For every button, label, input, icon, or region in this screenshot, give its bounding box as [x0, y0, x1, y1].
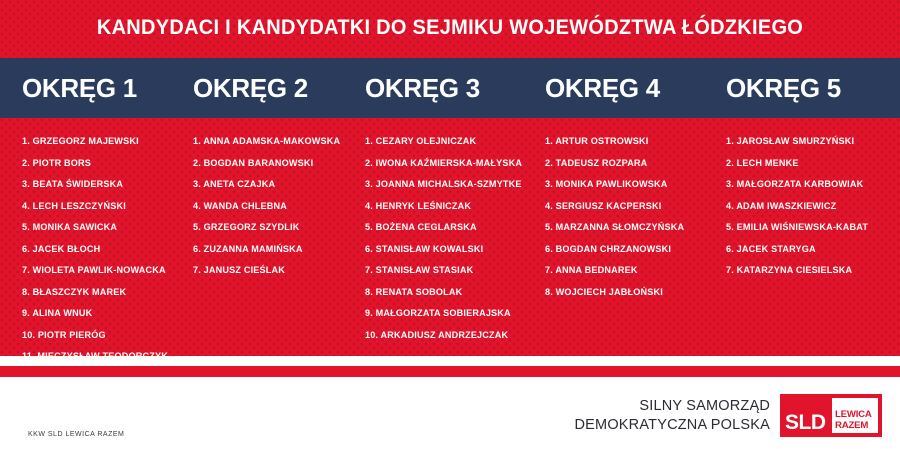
list-item: 6. JACEK STARYGA	[726, 239, 900, 261]
list-item: 5. BOŻENA CEGLARSKA	[365, 217, 535, 239]
list-item: 1. GRZEGORZ MAJEWSKI	[22, 131, 180, 153]
list-item: 2. IWONA KAŹMIERSKA-MAŁYSKA	[365, 153, 535, 175]
list-item: 2. PIOTR BORS	[22, 153, 180, 175]
district-header-1: OKRĘG 1	[0, 73, 180, 103]
district-header-2: OKRĘG 2	[180, 73, 355, 103]
list-item: 8. BŁASZCZYK MAREK	[22, 282, 180, 304]
title-bar: KANDYDACI I KANDYDATKI DO SEJMIKU WOJEWÓ…	[0, 0, 900, 58]
district-header-band: OKRĘG 1 OKRĘG 2 OKRĘG 3 OKRĘG 4 OKRĘG 5	[0, 58, 900, 118]
candidate-column-4: 1. ARTUR OSTROWSKI 2. TADEUSZ ROZPARA 3.…	[535, 118, 718, 303]
list-item: 3. MAŁGORZATA KARBOWIAK	[726, 174, 900, 196]
sld-logo-subtext-line-2: RAZEM	[835, 420, 872, 431]
candidate-column-3: 1. CEZARY OLEJNICZAK 2. IWONA KAŹMIERSKA…	[355, 118, 535, 346]
campaign-poster: KANDYDACI I KANDYDATKI DO SEJMIKU WOJEWÓ…	[0, 0, 900, 449]
campaign-slogan: SILNY SAMORZĄD DEMOKRATYCZNA POLSKA	[575, 397, 771, 435]
sld-logo: SLD LEWICA RAZEM	[780, 394, 882, 437]
footer: KKW SLD LEWICA RAZEM SILNY SAMORZĄD DEMO…	[0, 377, 900, 449]
sld-logo-wordmark: SLD	[785, 412, 826, 434]
slogan-line-1: SILNY SAMORZĄD	[575, 397, 771, 416]
list-item: 6. ZUZANNA MAMIŃSKA	[193, 239, 355, 261]
list-item: 4. LECH LESZCZYŃSKI	[22, 196, 180, 218]
list-item: 8. RENATA SOBOLAK	[365, 282, 535, 304]
list-item: 8. WOJCIECH JABŁOŃSKI	[545, 282, 718, 304]
list-item: 2. TADEUSZ ROZPARA	[545, 153, 718, 175]
list-item: 5. GRZEGORZ SZYDLIK	[193, 217, 355, 239]
district-header-4: OKRĘG 4	[535, 73, 718, 103]
page-title: KANDYDACI I KANDYDATKI DO SEJMIKU WOJEWÓ…	[32, 13, 869, 41]
list-item: 7. STANISŁAW STASIAK	[365, 260, 535, 282]
candidate-column-5: 1. JAROSŁAW SMURZYŃSKI 2. LECH MENKE 3. …	[718, 118, 900, 282]
divider-red-rule	[0, 366, 900, 377]
list-item: 4. SERGIUSZ KACPERSKI	[545, 196, 718, 218]
list-item: 3. ANETA CZAJKA	[193, 174, 355, 196]
slogan-line-2: DEMOKRATYCZNA POLSKA	[575, 416, 771, 435]
list-item: 9. MAŁGORZATA SOBIERAJSKA	[365, 303, 535, 325]
list-item: 10. ARKADIUSZ ANDRZEJCZAK	[365, 325, 535, 347]
list-item: 7. ANNA BEDNAREK	[545, 260, 718, 282]
list-item: 5. MARZANNA SŁOMCZYŃSKA	[545, 217, 718, 239]
list-item: 4. ADAM IWASZKIEWICZ	[726, 196, 900, 218]
committee-note: KKW SLD LEWICA RAZEM	[28, 431, 124, 438]
list-item: 1. CEZARY OLEJNICZAK	[365, 131, 535, 153]
candidate-column-1: 1. GRZEGORZ MAJEWSKI 2. PIOTR BORS 3. BE…	[0, 118, 180, 368]
list-item: 1. ANNA ADAMSKA-MAKOWSKA	[193, 131, 355, 153]
list-item: 5. MONIKA SAWICKA	[22, 217, 180, 239]
list-item: 4. HENRYK LEŚNICZAK	[365, 196, 535, 218]
list-item: 4. WANDA CHLEBNA	[193, 196, 355, 218]
district-header-3: OKRĘG 3	[355, 73, 535, 103]
candidate-lists-area: 1. GRZEGORZ MAJEWSKI 2. PIOTR BORS 3. BE…	[0, 118, 900, 356]
list-item: 9. ALINA WNUK	[22, 303, 180, 325]
list-item: 7. WIOLETA PAWLIK-NOWACKA	[22, 260, 180, 282]
district-header-5: OKRĘG 5	[718, 73, 900, 103]
list-item: 6. STANISŁAW KOWALSKI	[365, 239, 535, 261]
list-item: 6. JACEK BŁOCH	[22, 239, 180, 261]
list-item: 1. ARTUR OSTROWSKI	[545, 131, 718, 153]
list-item: 10. PIOTR PIERÓG	[22, 325, 180, 347]
sld-logo-box: LEWICA RAZEM	[832, 398, 878, 433]
list-item: 1. JAROSŁAW SMURZYŃSKI	[726, 131, 900, 153]
list-item: 3. MONIKA PAWLIKOWSKA	[545, 174, 718, 196]
list-item: 2. BOGDAN BARANOWSKI	[193, 153, 355, 175]
list-item: 7. KATARZYNA CIESIELSKA	[726, 260, 900, 282]
divider-white-gap	[0, 356, 900, 366]
list-item: 6. BOGDAN CHRZANOWSKI	[545, 239, 718, 261]
list-item: 3. JOANNA MICHALSKA-SZMYTKE	[365, 174, 535, 196]
sld-logo-subtext: LEWICA RAZEM	[835, 409, 872, 431]
list-item: 2. LECH MENKE	[726, 153, 900, 175]
list-item: 7. JANUSZ CIEŚLAK	[193, 260, 355, 282]
list-item: 3. BEATA ŚWIDERSKA	[22, 174, 180, 196]
candidate-column-2: 1. ANNA ADAMSKA-MAKOWSKA 2. BOGDAN BARAN…	[180, 118, 355, 282]
list-item: 5. EMILIA WIŚNIEWSKA-KABAT	[726, 217, 900, 239]
sld-logo-subtext-line-1: LEWICA	[835, 409, 872, 420]
